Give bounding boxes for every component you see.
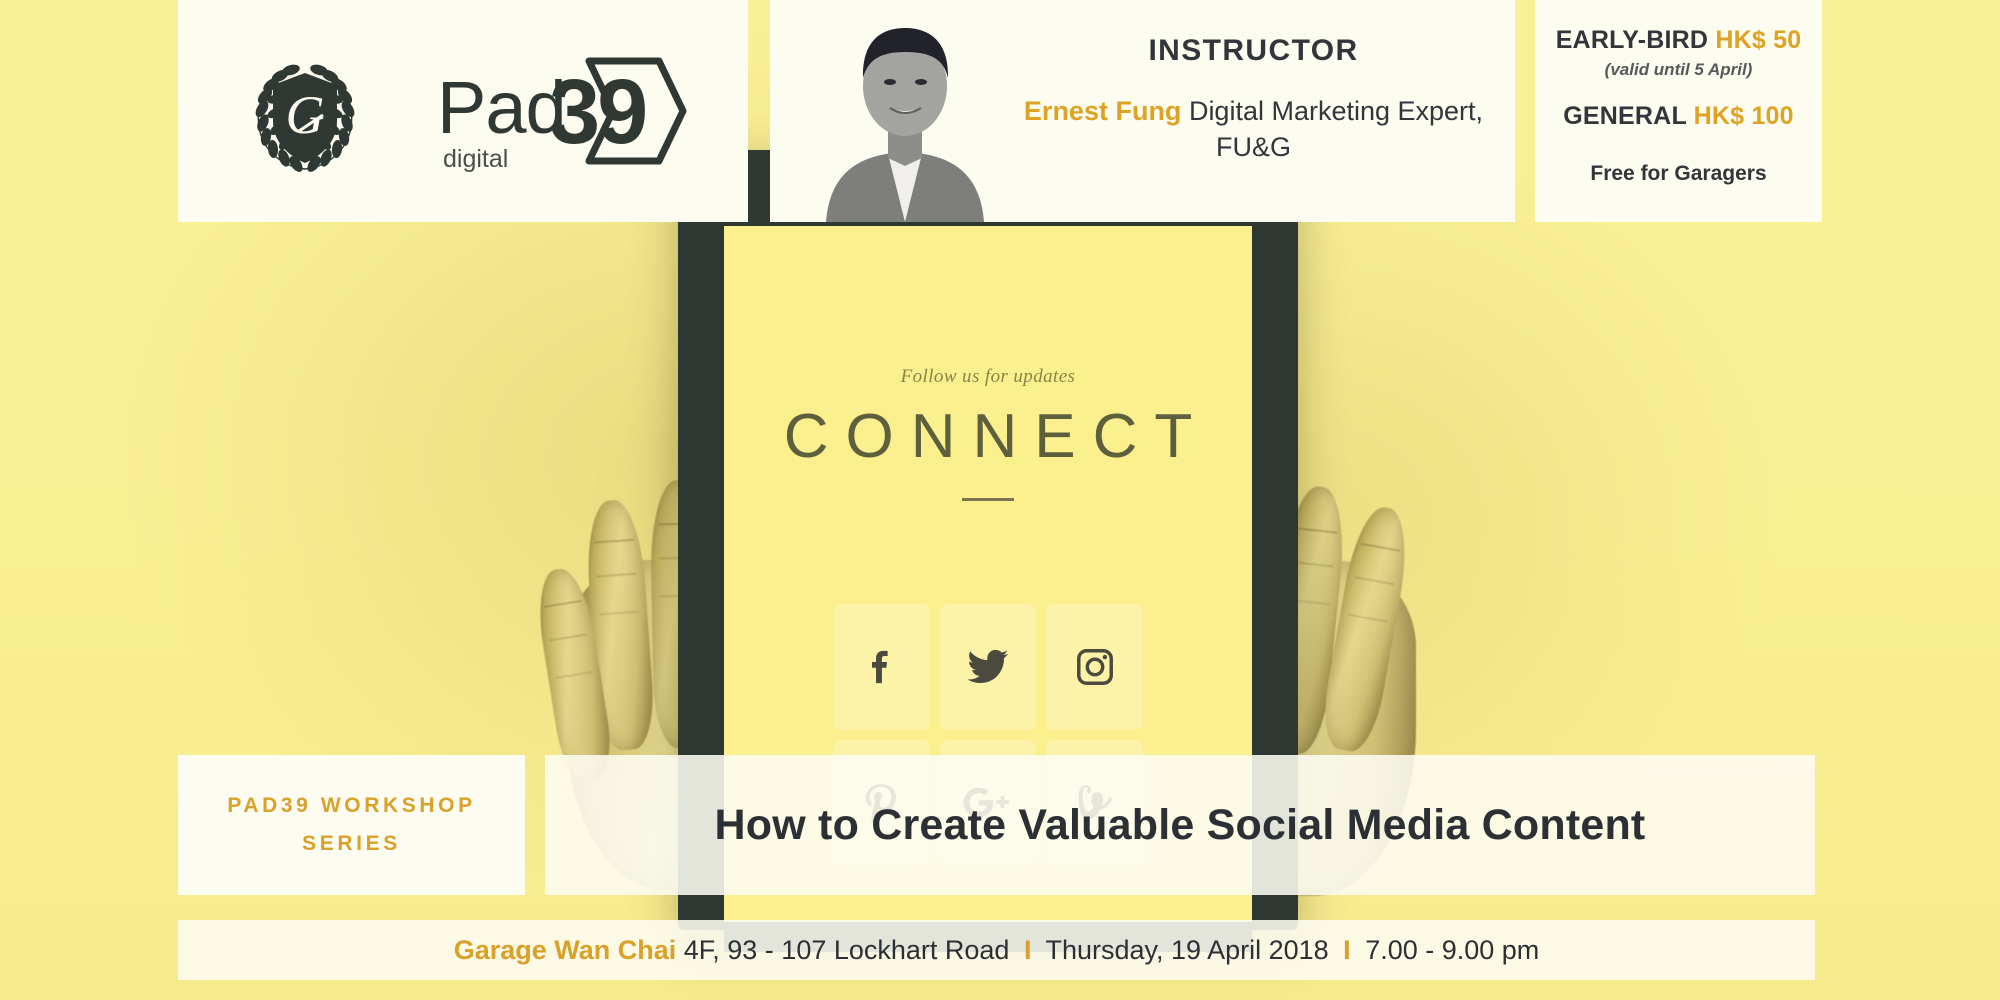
series-line-2: SERIES xyxy=(302,832,401,856)
instructor-photo xyxy=(810,8,1000,222)
general-label: GENERAL xyxy=(1563,102,1686,130)
facebook-icon[interactable] xyxy=(833,604,930,730)
garagers-free-note: Free for Garagers xyxy=(1535,162,1822,186)
event-title-panel: How to Create Valuable Social Media Cont… xyxy=(545,755,1815,895)
logo-panel: G Pad 39 digital xyxy=(178,0,748,222)
instructor-details: INSTRUCTOR Ernest Fung Digital Marketing… xyxy=(1010,34,1497,165)
instructor-name: Ernest Fung xyxy=(1024,96,1182,126)
svg-text:39: 39 xyxy=(549,61,645,163)
svg-text:Pad: Pad xyxy=(437,66,566,149)
twitter-icon[interactable] xyxy=(940,604,1037,730)
pricing-panel: EARLY-BIRD HK$ 50 (valid until 5 April) … xyxy=(1535,0,1822,222)
early-bird-note: (valid until 5 April) xyxy=(1535,60,1822,80)
venue-time: 7.00 - 9.00 pm xyxy=(1358,935,1540,965)
instructor-role: Digital Marketing Expert, FU&G xyxy=(1181,96,1483,162)
venue-place: Garage Wan Chai xyxy=(454,935,677,965)
event-banner: Follow us for updates CONNECT xyxy=(0,0,2000,1000)
pad39-logo: Pad 39 digital xyxy=(437,47,687,175)
venue-address: 4F, 93 - 107 Lockhart Road xyxy=(676,935,1017,965)
venue-separator-2: I xyxy=(1336,935,1358,965)
general-row: GENERAL HK$ 100 xyxy=(1535,102,1822,131)
screen-title: CONNECT xyxy=(724,398,1252,476)
screen-eyebrow: Follow us for updates xyxy=(724,366,1252,388)
early-bird-label: EARLY-BIRD xyxy=(1556,26,1709,54)
svg-text:digital: digital xyxy=(443,145,508,173)
venue-date: Thursday, 19 April 2018 xyxy=(1038,935,1336,965)
venue-details: Garage Wan Chai 4F, 93 - 107 Lockhart Ro… xyxy=(454,935,1540,966)
instructor-kicker: INSTRUCTOR xyxy=(1010,34,1497,68)
event-title: How to Create Valuable Social Media Cont… xyxy=(715,801,1646,850)
series-line-1: PAD39 WORKSHOP xyxy=(227,794,475,818)
venue-bar: Garage Wan Chai 4F, 93 - 107 Lockhart Ro… xyxy=(178,920,1815,980)
workshop-series-panel: PAD39 WORKSHOP SERIES xyxy=(178,755,525,895)
instagram-icon[interactable] xyxy=(1046,604,1143,730)
garage-shield-logo: G xyxy=(239,45,371,177)
venue-separator-1: I xyxy=(1017,935,1039,965)
svg-text:G: G xyxy=(286,85,325,145)
general-amount: HK$ 100 xyxy=(1694,102,1794,130)
early-bird-row: EARLY-BIRD HK$ 50 xyxy=(1535,26,1822,55)
instructor-line: Ernest Fung Digital Marketing Expert, FU… xyxy=(1010,94,1497,165)
early-bird-amount: HK$ 50 xyxy=(1715,26,1801,54)
screen-divider xyxy=(962,498,1014,501)
instructor-panel: INSTRUCTOR Ernest Fung Digital Marketing… xyxy=(770,0,1515,222)
